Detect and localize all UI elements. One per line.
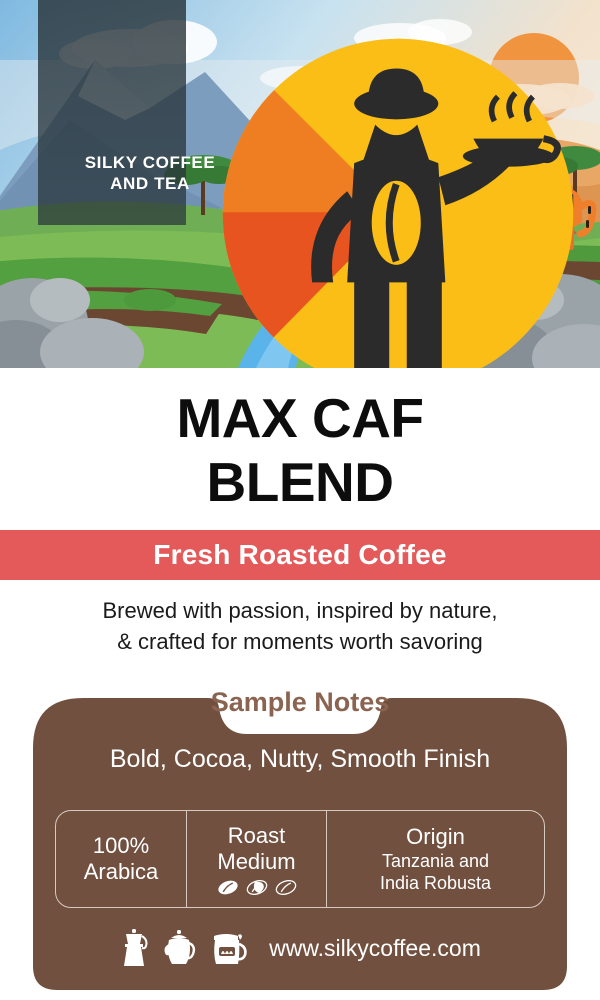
product-title-line2: BLEND [0,450,600,514]
spec-arabica: 100% Arabica [56,811,186,907]
moka-pot-icon [119,928,149,968]
origin-line2: India Robusta [380,872,491,894]
tagline: Brewed with passion, inspired by nature,… [0,595,600,657]
milk-jug-icon [209,928,247,968]
barista-silhouette-icon [98,30,203,135]
website-url: www.silkycoffee.com [269,935,481,962]
banner-text: Fresh Roasted Coffee [153,539,446,571]
tagline-line2: & crafted for moments worth savoring [0,626,600,657]
arabica-percent: 100% [93,833,149,859]
sample-notes-description: Bold, Cocoa, Nutty, Smooth Finish [33,745,567,774]
specs-row: 100% Arabica Roast Medium [55,810,545,908]
product-title-line1: MAX CAF [0,386,600,450]
spec-roast: Roast Medium [186,811,326,907]
origin-label: Origin [406,824,465,850]
arabica-label: Arabica [84,859,159,885]
roast-beans [217,880,297,895]
sample-notes-panel: Sample Notes Bold, Cocoa, Nutty, Smooth … [33,690,567,990]
teapot-icon [162,928,196,968]
brand-name: SILKY COFFEE AND TEA [76,152,224,194]
roast-label: Roast [228,823,285,849]
brand-name-line1: SILKY COFFEE [76,152,224,173]
sample-notes-heading: Sample Notes [33,687,567,718]
origin-line1: Tanzania and [382,850,489,872]
panel-footer: www.silkycoffee.com [33,928,567,968]
roast-value: Medium [217,849,295,875]
coffee-label: SILKY COFFEE AND TEA MAX CAF BLEND Fresh… [0,0,600,1000]
coffee-bean-icon-half [246,880,268,895]
coffee-bean-icon-filled [217,880,239,895]
tagline-line1: Brewed with passion, inspired by nature, [0,595,600,626]
logo-panel: SILKY COFFEE AND TEA [38,0,186,225]
coffee-bean-icon-empty [275,880,297,895]
page-title: MAX CAF BLEND [0,386,600,514]
brand-name-line2: AND TEA [76,173,224,194]
banner-strip: Fresh Roasted Coffee [0,530,600,580]
hero-illustration: SILKY COFFEE AND TEA [0,0,600,368]
spec-origin: Origin Tanzania and India Robusta [326,811,544,907]
